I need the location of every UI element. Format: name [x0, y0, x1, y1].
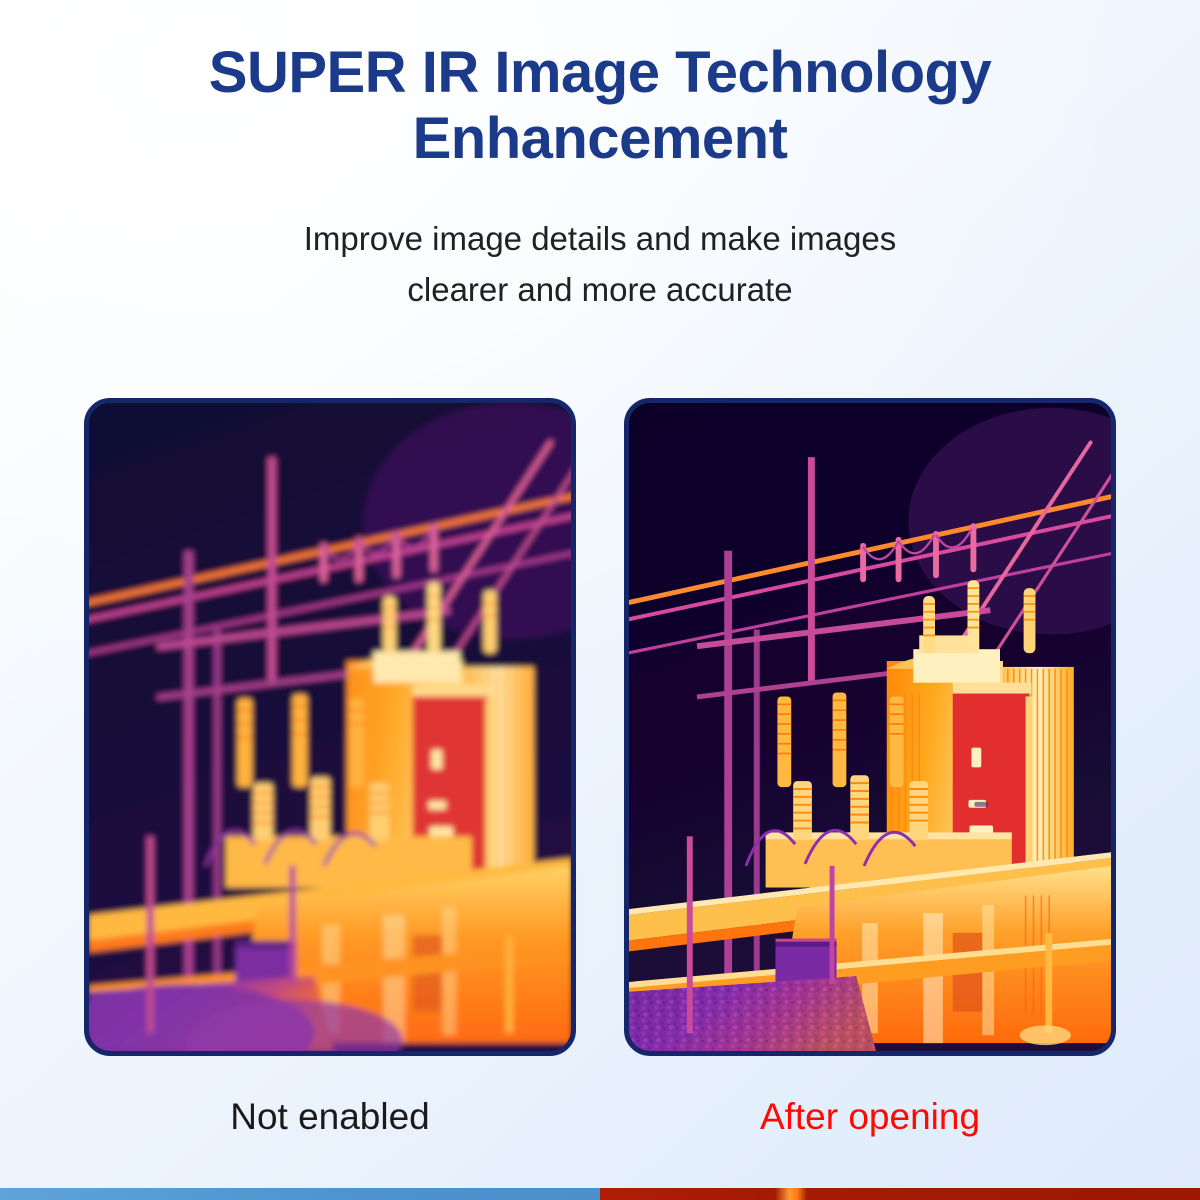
caption-after: After opening [624, 1056, 1116, 1138]
promo-page: SUPER IR Image Technology Enhancement Im… [0, 0, 1200, 1200]
comparison-panel-after: After opening [624, 398, 1116, 1138]
thermal-image-enhanced[interactable] [624, 398, 1116, 1056]
thermal-svg-after [629, 403, 1111, 1051]
bottom-accent-strip [0, 1188, 1200, 1200]
title-line-2: Enhancement [413, 106, 788, 171]
page-subtitle: Improve image details and make images cl… [0, 171, 1200, 315]
strip-segment-red [600, 1188, 1200, 1200]
subtitle-line-1: Improve image details and make images [304, 220, 896, 257]
page-title: SUPER IR Image Technology Enhancement [0, 0, 1200, 171]
thermal-image-unenhanced[interactable] [84, 398, 576, 1056]
title-line-1: SUPER IR Image Technology [209, 40, 991, 105]
comparison-panel-before: Not enabled [84, 398, 576, 1138]
subtitle-line-2: clearer and more accurate [407, 271, 792, 308]
strip-segment-blue [0, 1188, 600, 1200]
header: SUPER IR Image Technology Enhancement Im… [0, 0, 1200, 315]
caption-before: Not enabled [84, 1056, 576, 1138]
image-comparison: Not enabled [84, 398, 1116, 1138]
strip-highlight [775, 1188, 807, 1200]
thermal-svg-before [89, 403, 571, 1051]
